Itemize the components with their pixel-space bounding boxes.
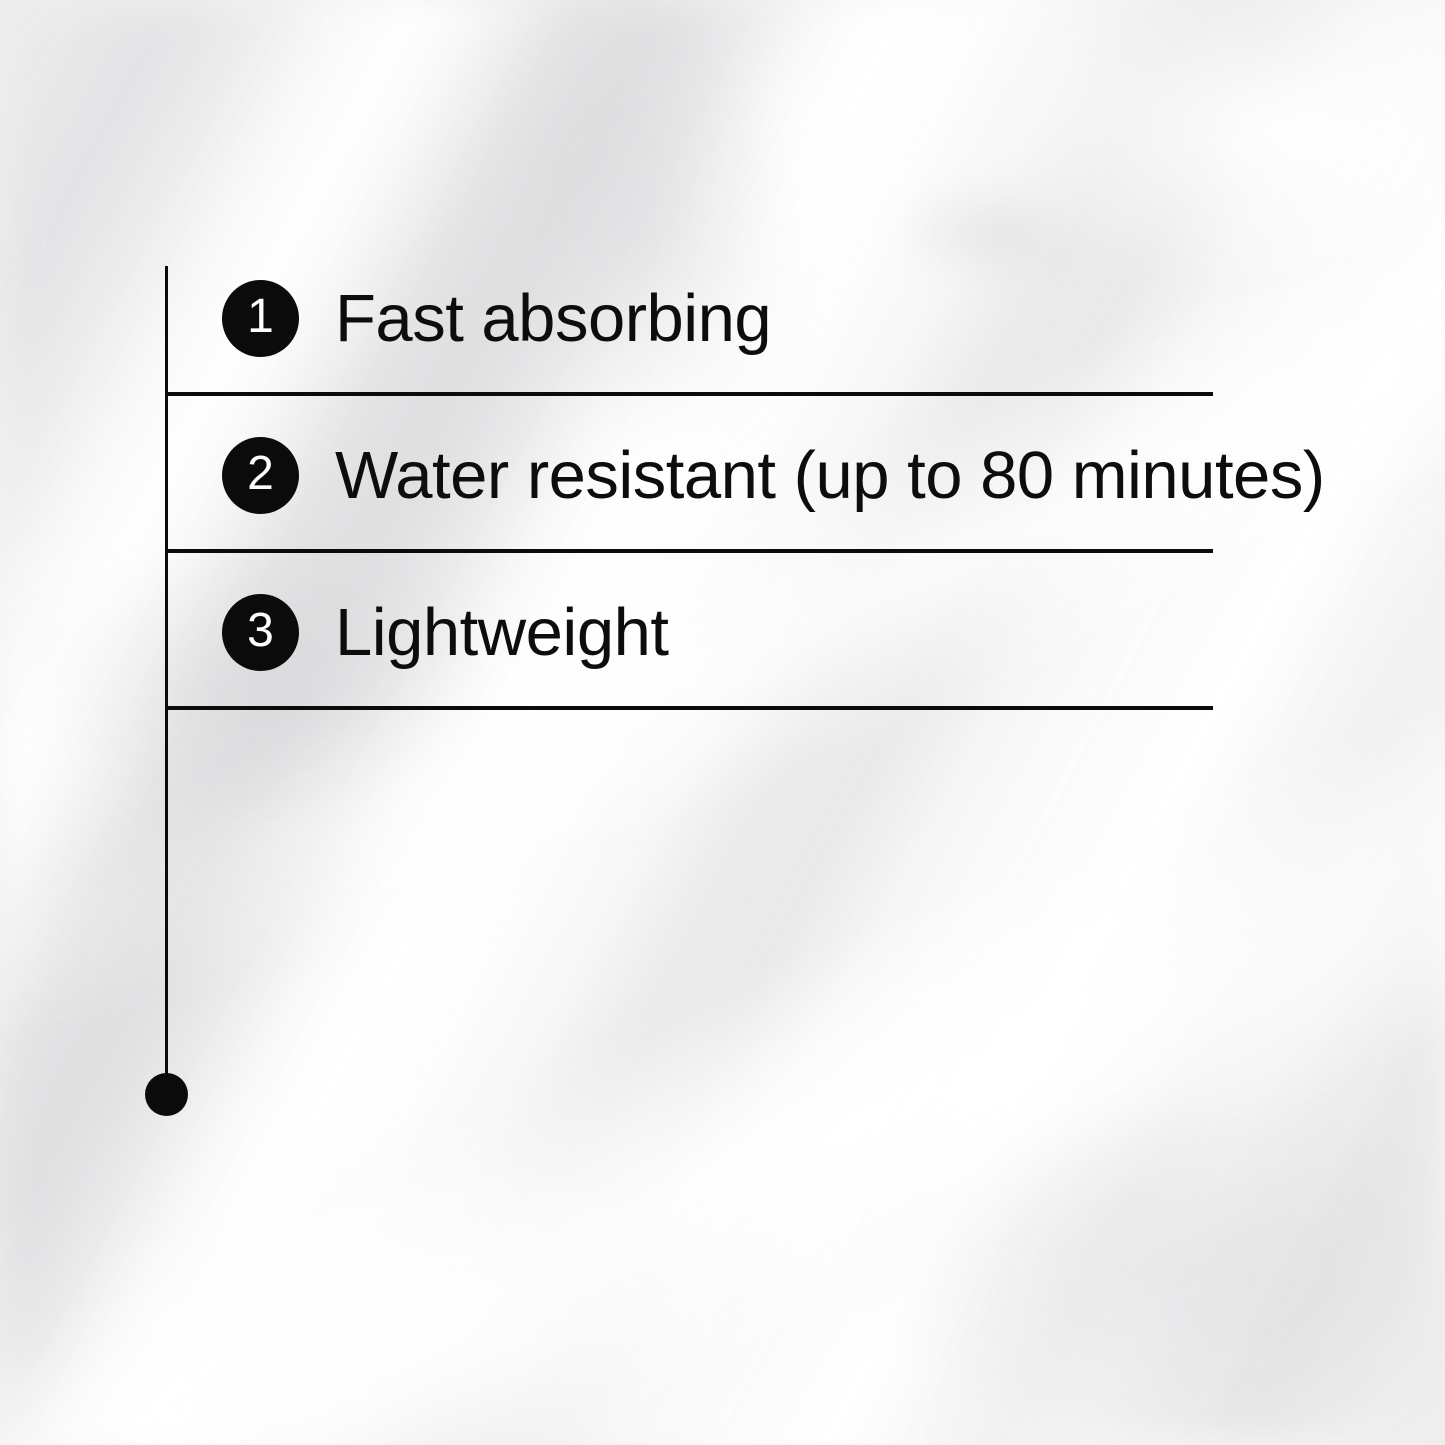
feature-number-badge: 1 xyxy=(222,280,299,357)
feature-list: 1 Fast absorbing 2 Water resistant (up t… xyxy=(0,0,1445,1445)
feature-row: 2 Water resistant (up to 80 minutes) xyxy=(166,432,1325,518)
feature-number-badge: 3 xyxy=(222,594,299,671)
feature-divider-2 xyxy=(166,549,1213,553)
feature-label: Lightweight xyxy=(335,599,668,666)
feature-label: Fast absorbing xyxy=(335,285,771,352)
feature-number-badge: 2 xyxy=(222,437,299,514)
product-feature-infographic: 1 Fast absorbing 2 Water resistant (up t… xyxy=(0,0,1445,1445)
terminal-dot-icon xyxy=(145,1073,188,1116)
vertical-rule-line xyxy=(165,266,168,1095)
feature-row: 3 Lightweight xyxy=(166,589,668,675)
feature-divider-3 xyxy=(166,706,1213,710)
feature-label: Water resistant (up to 80 minutes) xyxy=(335,442,1325,509)
feature-divider-1 xyxy=(166,392,1213,396)
feature-row: 1 Fast absorbing xyxy=(166,275,771,361)
